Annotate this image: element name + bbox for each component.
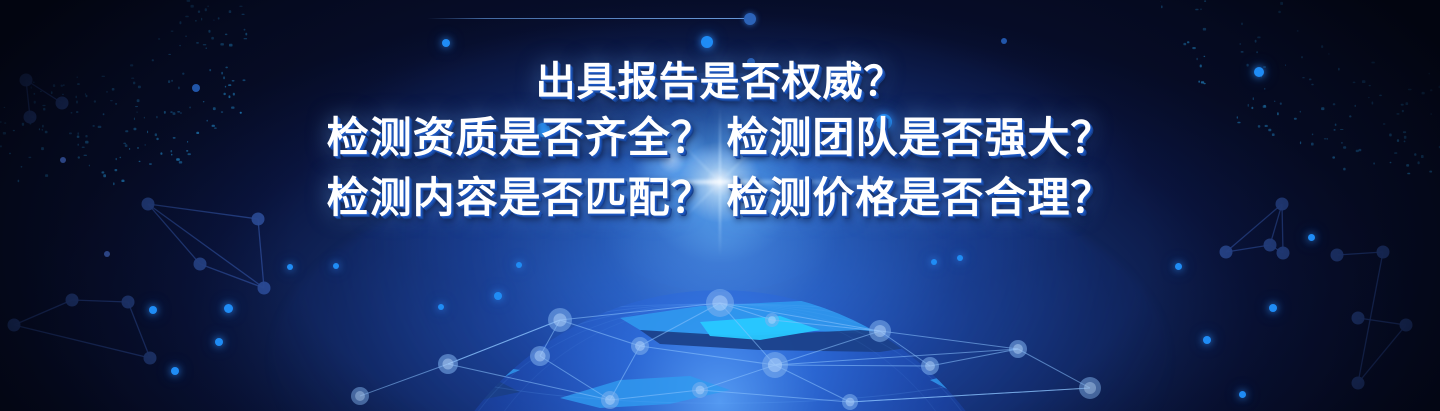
headline-block: 出具报告是否权威？ 检测资质是否齐全？ 检测团队是否强大？ 检测内容是否匹配？ … <box>0 56 1440 228</box>
decor-dot-5 <box>701 36 713 48</box>
headline-line-1: 出具报告是否权威？ <box>0 56 1440 108</box>
decor-dot-8 <box>1001 38 1007 44</box>
headline-line-3: 检测内容是否匹配？ 检测价格是否合理？ <box>0 168 1440 228</box>
hero-banner: 出具报告是否权威？ 检测资质是否齐全？ 检测团队是否强大？ 检测内容是否匹配？ … <box>0 0 1440 411</box>
headline-line-2: 检测资质是否齐全？ 检测团队是否强大？ <box>0 108 1440 168</box>
decor-dot-3 <box>442 39 450 47</box>
top-accent-rule-node-icon <box>744 13 756 25</box>
top-accent-rule <box>427 18 749 19</box>
